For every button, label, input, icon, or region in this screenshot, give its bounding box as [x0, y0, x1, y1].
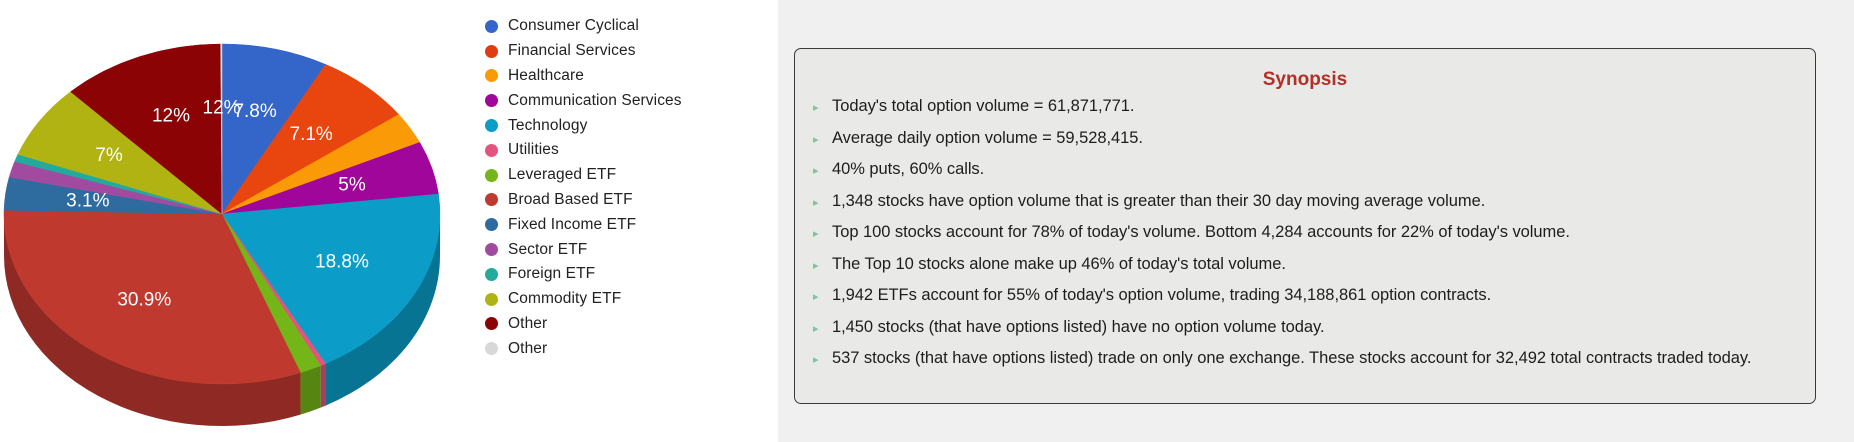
pie-slice-percentage-label: 3.1%: [66, 190, 109, 211]
legend-swatch-icon: [485, 119, 498, 132]
triangle-bullet-icon: ▸: [813, 165, 825, 176]
legend-item[interactable]: Sector ETF: [485, 237, 765, 262]
legend-item-label: Communication Services: [508, 92, 682, 110]
synopsis-item: ▸1,348 stocks have option volume that is…: [813, 192, 1815, 224]
legend-item-label: Leveraged ETF: [508, 166, 616, 184]
legend-item[interactable]: Consumer Cyclical: [485, 14, 765, 39]
synopsis-item-text: 537 stocks (that have options listed) tr…: [832, 349, 1751, 368]
triangle-bullet-icon: ▸: [813, 228, 825, 239]
triangle-bullet-icon: ▸: [813, 102, 825, 113]
legend-item[interactable]: Foreign ETF: [485, 262, 765, 287]
triangle-bullet-icon: ▸: [813, 260, 825, 271]
legend-item[interactable]: Utilities: [485, 138, 765, 163]
legend-swatch-icon: [485, 144, 498, 157]
legend-item[interactable]: Leveraged ETF: [485, 163, 765, 188]
legend-swatch-icon: [485, 193, 498, 206]
synopsis-item: ▸Top 100 stocks account for 78% of today…: [813, 223, 1815, 255]
pie-chart: 7.8%7.1%5%18.8%30.9%3.1%7%12%12%: [0, 18, 460, 438]
legend-item[interactable]: Communication Services: [485, 88, 765, 113]
synopsis-item: ▸Today's total option volume = 61,871,77…: [813, 97, 1815, 129]
synopsis-item-text: The Top 10 stocks alone make up 46% of t…: [832, 255, 1286, 274]
legend-swatch-icon: [485, 293, 498, 306]
legend-item-label: Fixed Income ETF: [508, 216, 636, 234]
pie-slice-percentage-label: 18.8%: [315, 252, 369, 273]
pie-slice-percentage-label: 12%: [203, 98, 241, 119]
synopsis-item: ▸1,450 stocks (that have options listed)…: [813, 318, 1815, 350]
synopsis-list: ▸Today's total option volume = 61,871,77…: [795, 97, 1815, 381]
chart-legend: Consumer CyclicalFinancial ServicesHealt…: [485, 14, 765, 361]
pie-slice-percentage-label: 7.1%: [290, 124, 333, 145]
legend-item-label: Utilities: [508, 141, 559, 159]
legend-item[interactable]: Healthcare: [485, 64, 765, 89]
legend-swatch-icon: [485, 45, 498, 58]
legend-item-label: Technology: [508, 117, 587, 135]
synopsis-item: ▸1,942 ETFs account for 55% of today's o…: [813, 286, 1815, 318]
legend-item-label: Other: [508, 340, 547, 358]
pie-slices: [4, 44, 440, 384]
synopsis-item-text: Top 100 stocks account for 78% of today'…: [832, 223, 1570, 242]
legend-swatch-icon: [485, 268, 498, 281]
option-volume-chart-panel: 7.8%7.1%5%18.8%30.9%3.1%7%12%12% Consume…: [0, 0, 778, 442]
legend-swatch-icon: [485, 243, 498, 256]
synopsis-panel: Synopsis ▸Today's total option volume = …: [794, 48, 1816, 404]
legend-swatch-icon: [485, 169, 498, 182]
triangle-bullet-icon: ▸: [813, 291, 825, 302]
synopsis-item-text: Today's total option volume = 61,871,771…: [832, 97, 1134, 116]
page-root: 7.8%7.1%5%18.8%30.9%3.1%7%12%12% Consume…: [0, 0, 1854, 442]
legend-item-label: Healthcare: [508, 67, 584, 85]
pie-slice-percentage-label: 12%: [152, 105, 190, 126]
legend-item[interactable]: Commodity ETF: [485, 287, 765, 312]
legend-item-label: Foreign ETF: [508, 265, 595, 283]
legend-item[interactable]: Financial Services: [485, 39, 765, 64]
legend-item-label: Other: [508, 315, 547, 333]
legend-item[interactable]: Other: [485, 336, 765, 361]
legend-item-label: Broad Based ETF: [508, 191, 633, 209]
pie-slice-side: [300, 366, 320, 415]
legend-swatch-icon: [485, 20, 498, 33]
legend-swatch-icon: [485, 94, 498, 107]
triangle-bullet-icon: ▸: [813, 197, 825, 208]
legend-item[interactable]: Broad Based ETF: [485, 188, 765, 213]
triangle-bullet-icon: ▸: [813, 134, 825, 145]
pie-slice-percentage-label: 5%: [338, 174, 366, 195]
synopsis-item-text: 40% puts, 60% calls.: [832, 160, 984, 179]
legend-item-label: Commodity ETF: [508, 290, 621, 308]
legend-swatch-icon: [485, 342, 498, 355]
synopsis-item: ▸537 stocks (that have options listed) t…: [813, 349, 1815, 381]
synopsis-title: Synopsis: [795, 69, 1815, 91]
synopsis-region: Synopsis ▸Today's total option volume = …: [778, 0, 1854, 442]
synopsis-item-text: Average daily option volume = 59,528,415…: [832, 129, 1143, 148]
legend-item-label: Consumer Cyclical: [508, 17, 639, 35]
synopsis-item: ▸Average daily option volume = 59,528,41…: [813, 129, 1815, 161]
synopsis-item-text: 1,942 ETFs account for 55% of today's op…: [832, 286, 1491, 305]
legend-item[interactable]: Technology: [485, 113, 765, 138]
pie-chart-svg: 7.8%7.1%5%18.8%30.9%3.1%7%12%12%: [0, 18, 460, 438]
triangle-bullet-icon: ▸: [813, 354, 825, 365]
synopsis-item-text: 1,450 stocks (that have options listed) …: [832, 318, 1325, 337]
pie-slice-percentage-label: 7%: [95, 145, 123, 166]
legend-swatch-icon: [485, 218, 498, 231]
legend-item[interactable]: Fixed Income ETF: [485, 212, 765, 237]
synopsis-item: ▸40% puts, 60% calls.: [813, 160, 1815, 192]
pie-slice-percentage-label: 30.9%: [117, 289, 171, 310]
triangle-bullet-icon: ▸: [813, 323, 825, 334]
pie-slice-side: [321, 364, 326, 408]
legend-item-label: Sector ETF: [508, 241, 587, 259]
legend-item[interactable]: Other: [485, 312, 765, 337]
legend-swatch-icon: [485, 69, 498, 82]
legend-swatch-icon: [485, 317, 498, 330]
legend-item-label: Financial Services: [508, 42, 636, 60]
synopsis-item-text: 1,348 stocks have option volume that is …: [832, 192, 1485, 211]
synopsis-item: ▸The Top 10 stocks alone make up 46% of …: [813, 255, 1815, 287]
